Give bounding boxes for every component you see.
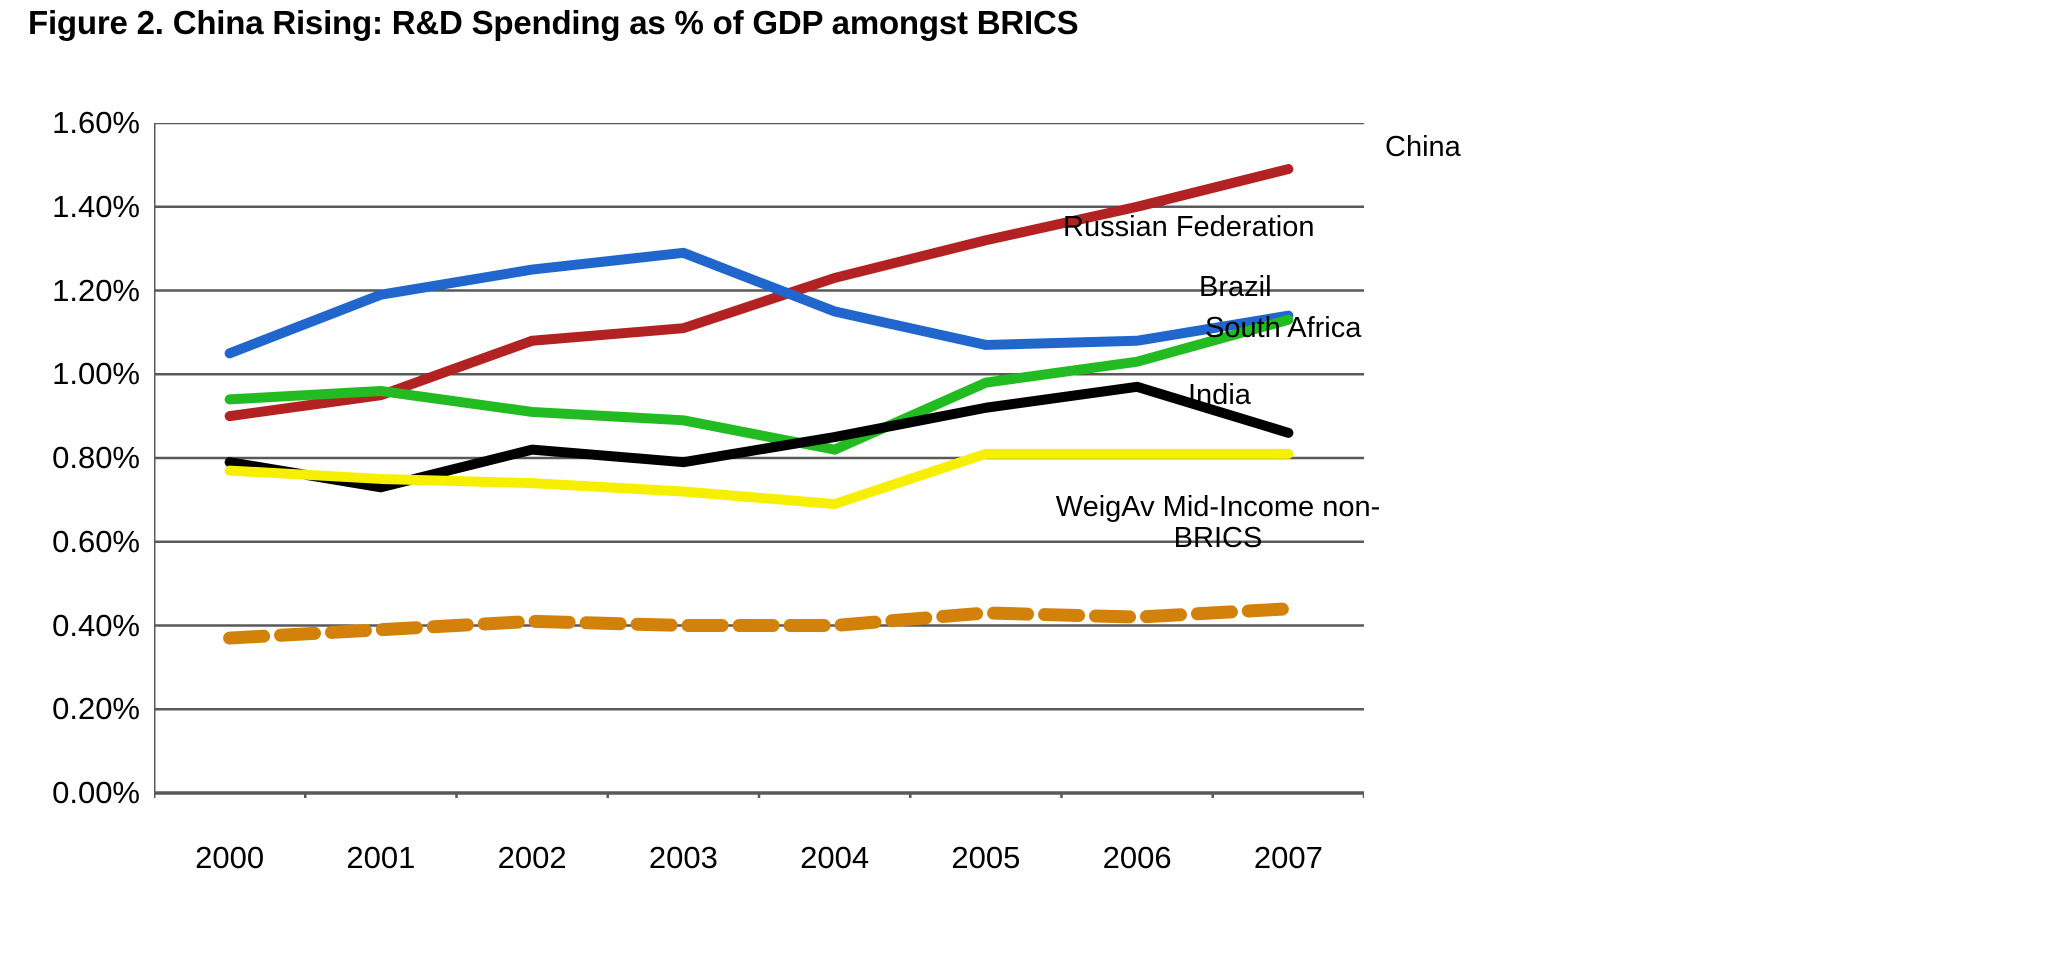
x-axis-tick-label: 2006 [1103, 840, 1172, 876]
series-label: India [1188, 379, 1251, 412]
series-label: Russian Federation [1063, 211, 1314, 244]
series-label: Brazil [1199, 271, 1272, 304]
series-line [230, 609, 1289, 638]
chart-page: Figure 2. China Rising: R&D Spending as … [0, 0, 2048, 958]
x-axis-tick-label: 2001 [346, 840, 415, 876]
x-axis-tick-label: 2003 [649, 840, 718, 876]
x-axis-tick-label: 2000 [195, 840, 264, 876]
series-label: South Africa [1205, 312, 1361, 345]
x-axis-tick-label: 2002 [498, 840, 567, 876]
x-axis-tick-label: 2005 [951, 840, 1020, 876]
x-axis-tick-label: 2007 [1254, 840, 1323, 876]
series-label: WeigAv Mid-Income non-BRICS [1018, 492, 1418, 555]
series-label: China [1385, 131, 1461, 164]
x-axis-tick-label: 2004 [800, 840, 869, 876]
